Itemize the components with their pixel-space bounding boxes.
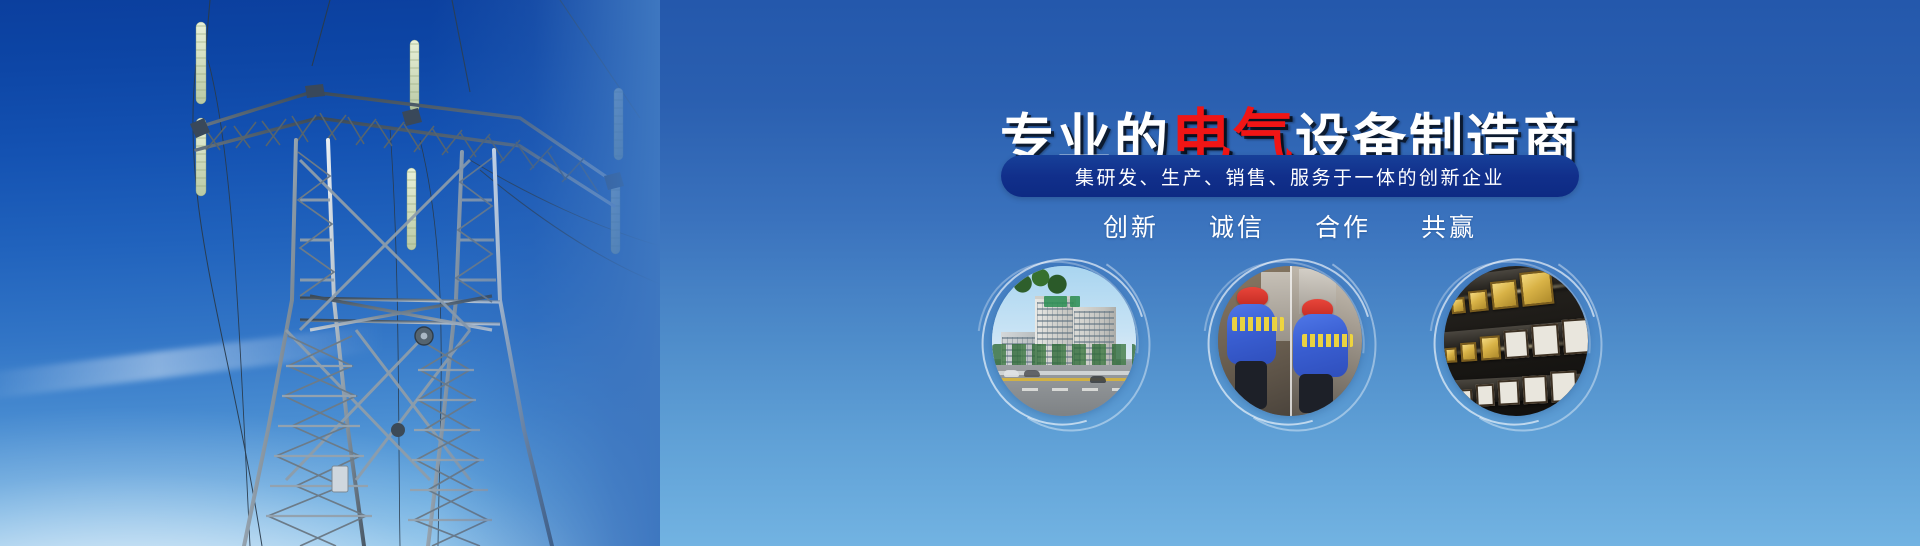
subtitle-pill: 集研发、生产、销售、服务于一体的创新企业 <box>1001 155 1579 197</box>
keyword-item: 共赢 <box>1421 208 1477 244</box>
keyword-list: 创新 诚信 合作 共赢 <box>660 208 1920 244</box>
keyword-item: 合作 <box>1315 208 1371 244</box>
photo-circle-certificates <box>1434 258 1598 426</box>
hero-banner: 专业的电气设备制造商 集研发、生产、销售、服务于一体的创新企业 创新 诚信 合作… <box>0 0 1920 546</box>
photo-circle-workers <box>1208 258 1372 426</box>
pylon-icon <box>0 0 660 546</box>
banner-content: 专业的电气设备制造商 集研发、生产、销售、服务于一体的创新企业 创新 诚信 合作… <box>660 0 1920 546</box>
keyword-item: 创新 <box>1103 208 1159 244</box>
workers-photo <box>1218 266 1362 416</box>
office-building-photo <box>992 266 1136 416</box>
subtitle-text: 集研发、生产、销售、服务于一体的创新企业 <box>1075 163 1505 190</box>
keyword-item: 诚信 <box>1209 208 1265 244</box>
photo-circle-office-building <box>982 258 1146 426</box>
transmission-tower-photo <box>0 0 660 546</box>
photo-circle-list <box>660 258 1920 426</box>
certificate-wall-photo <box>1444 266 1588 416</box>
